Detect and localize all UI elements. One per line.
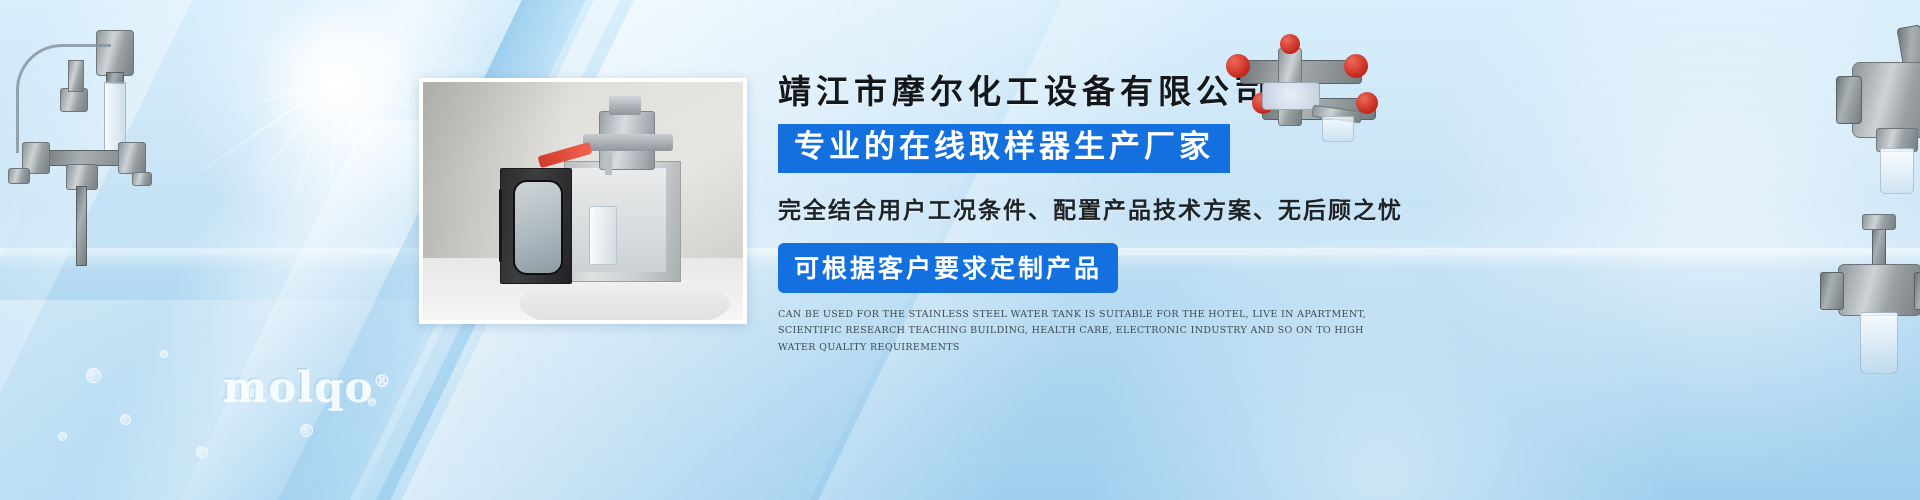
- bubble-decoration: [120, 414, 131, 425]
- valve-body: [1838, 264, 1920, 316]
- probe-rod: [76, 186, 87, 266]
- bubble-decoration: [160, 350, 168, 358]
- sample-beaker: [1322, 116, 1354, 142]
- bubble-decoration: [196, 446, 208, 458]
- sun-ray-icon: [335, 80, 378, 225]
- sample-tube: [605, 153, 611, 174]
- sample-bottle: [1880, 148, 1914, 194]
- top-cap: [1862, 214, 1896, 230]
- cabinet-door: [500, 168, 572, 284]
- english-description: CAN BE USED FOR THE STAINLESS STEEL WATE…: [778, 307, 1378, 357]
- sub-headline: 完全结合用户工况条件、配置产品技术方案、无后顾之忧: [778, 191, 1398, 225]
- bubble-decoration: [58, 432, 67, 441]
- sun-ray-icon: [220, 79, 336, 114]
- flange-right: [118, 142, 146, 174]
- side-port: [8, 168, 30, 184]
- valve-body: [1852, 62, 1920, 138]
- gauge-logo-icon: [1272, 88, 1306, 102]
- watermark-logo: molqo®: [222, 362, 391, 411]
- sample-bottle: [589, 206, 617, 265]
- red-handwheel-icon: [1344, 54, 1368, 78]
- sun-ray-icon: [243, 79, 337, 198]
- flange-right: [1914, 272, 1920, 310]
- watermark-text: molqo: [222, 362, 373, 411]
- sun-ray-icon: [284, 80, 337, 222]
- promo-banner: 靖江市摩尔化工设备有限公司 专业的在线取样器生产厂家 完全结合用户工况条件、配置…: [0, 0, 1920, 500]
- bubble-decoration: [86, 368, 101, 383]
- bubble-decoration: [300, 424, 313, 437]
- right-glow: [1400, 0, 1920, 500]
- sample-bottle: [1860, 312, 1898, 374]
- sun-ray-icon: [335, 79, 421, 204]
- registered-mark-icon: ®: [373, 371, 391, 391]
- door-hinge: [499, 189, 503, 262]
- cabinet-interior: [570, 168, 666, 273]
- door-window: [513, 180, 562, 275]
- flange-left: [1836, 76, 1862, 124]
- red-handwheel-icon: [1280, 34, 1300, 54]
- sun-ray-icon: [330, 80, 337, 230]
- product-photo: [419, 78, 747, 324]
- headline-banner: 专业的在线取样器生产厂家: [778, 124, 1230, 173]
- support-arc: [16, 44, 111, 153]
- product-photo-image: [423, 82, 743, 320]
- valve-cap: [609, 96, 641, 115]
- side-port: [132, 172, 152, 186]
- red-handwheel-icon: [1226, 54, 1250, 78]
- custom-product-pill: 可根据客户要求定制产品: [778, 243, 1118, 293]
- flange-left: [1820, 272, 1844, 310]
- sun-ray-icon: [178, 79, 337, 187]
- valve-flange: [583, 134, 673, 151]
